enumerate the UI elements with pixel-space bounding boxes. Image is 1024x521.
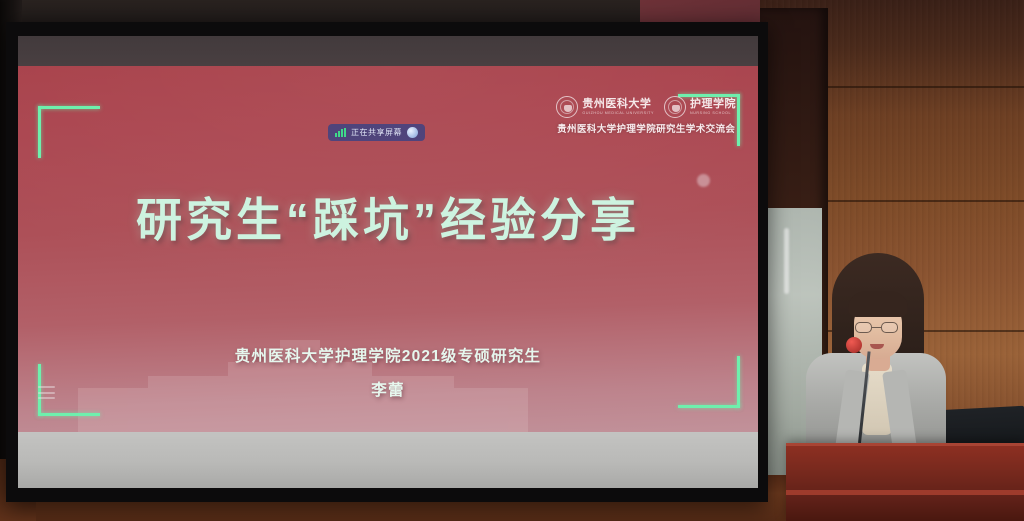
- logo-university: 贵州医科大学 GUIZHOU MEDICAL UNIVERSITY: [556, 96, 654, 118]
- slide-affiliation: 贵州医科大学护理学院2021级专硕研究生: [18, 344, 758, 366]
- meeting-app-icon: [407, 127, 418, 138]
- projection-screen-frame: 正在共享屏幕 贵州医科大学 GUIZHOU MEDICAL UNIVERSITY: [6, 22, 768, 502]
- logo-nursing-school: 护理学院 NURSING SCHOOL: [664, 96, 736, 118]
- hamburger-menu-icon[interactable]: [38, 386, 55, 399]
- slide-header-subtitle: 贵州医科大学护理学院研究生学术交流会: [557, 121, 735, 135]
- microphone-head-icon: [846, 337, 862, 353]
- eyeglasses-bridge: [872, 327, 881, 328]
- screen-top-band: [18, 36, 758, 70]
- lecture-hall-scene: 正在共享屏幕 贵州医科大学 GUIZHOU MEDICAL UNIVERSITY: [0, 0, 1024, 521]
- projection-screen-surface: 正在共享屏幕 贵州医科大学 GUIZHOU MEDICAL UNIVERSITY: [18, 36, 758, 488]
- circle-control-icon[interactable]: [697, 174, 710, 187]
- university-name-cn: 贵州医科大学: [582, 99, 654, 110]
- eyeglasses-right-lens-icon: [881, 322, 898, 333]
- nursing-school-seal-icon: [664, 96, 686, 118]
- screen-share-badge[interactable]: 正在共享屏幕: [328, 124, 425, 141]
- slide-presenter-name: 李蕾: [18, 378, 758, 400]
- wall-panel-seam: [828, 200, 1024, 202]
- wall-panel-seam: [828, 86, 1024, 88]
- wooden-podium: [786, 443, 1024, 521]
- nursing-school-name-en: NURSING SCHOOL: [690, 112, 736, 116]
- screen-bottom-blank-area: [18, 432, 758, 488]
- university-name-en: GUIZHOU MEDICAL UNIVERSITY: [582, 112, 654, 116]
- podium-ledge: [786, 490, 1024, 495]
- slide-title: 研究生“踩坑”经验分享: [18, 184, 758, 250]
- university-seal-icon: [556, 96, 578, 118]
- presentation-slide: 正在共享屏幕 贵州医科大学 GUIZHOU MEDICAL UNIVERSITY: [18, 66, 758, 460]
- logo-row: 贵州医科大学 GUIZHOU MEDICAL UNIVERSITY 护理学院 N…: [556, 96, 736, 118]
- corner-bracket-top-left: [38, 106, 100, 158]
- eyeglasses-left-lens-icon: [855, 322, 872, 333]
- presenter-figure: [800, 243, 950, 463]
- nursing-school-name-cn: 护理学院: [690, 99, 736, 110]
- screen-share-label: 正在共享屏幕: [351, 127, 402, 138]
- signal-bars-icon: [335, 128, 346, 137]
- slide-header-logos: 贵州医科大学 GUIZHOU MEDICAL UNIVERSITY 护理学院 N…: [556, 96, 736, 135]
- glass-highlight: [784, 228, 789, 294]
- presenter-hair-fringe: [848, 291, 908, 317]
